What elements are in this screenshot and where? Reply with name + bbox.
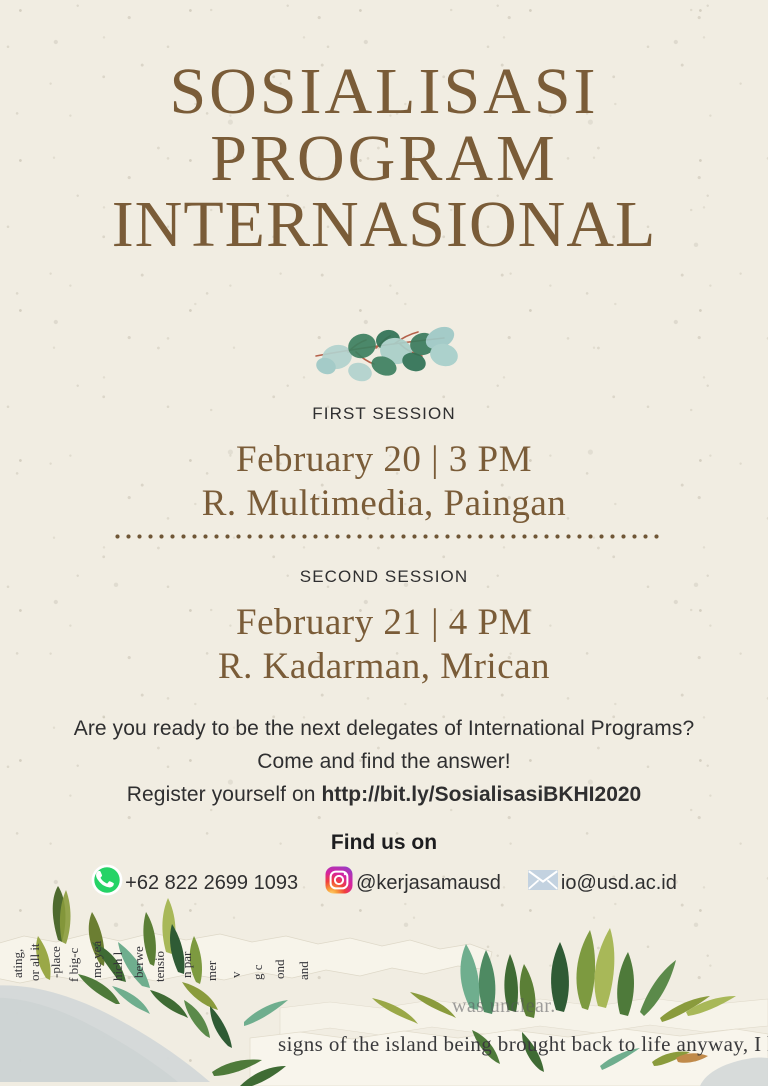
- poster-title: SOSIALISASI PROGRAM INTERNASIONAL: [0, 62, 768, 256]
- dotted-divider: [112, 533, 660, 540]
- body-line-2: Come and find the answer!: [0, 745, 768, 778]
- registration-link[interactable]: http://bit.ly/SosialisasiBKHI2020: [321, 783, 641, 806]
- body-line-1: Are you ready to be the next delegates o…: [0, 712, 768, 745]
- first-session-details: February 20 | 3 PM R. Multimedia, Painga…: [0, 438, 768, 527]
- title-line-3: INTERNASIONAL: [0, 195, 768, 256]
- first-session-datetime: February 20 | 3 PM: [0, 438, 768, 482]
- poster-canvas: SOSIALISASI PROGRAM INTERNASIONAL: [0, 0, 768, 1086]
- second-session-details: February 21 | 4 PM R. Kadarman, Mrican: [0, 601, 768, 690]
- second-session-venue: R. Kadarman, Mrican: [0, 645, 768, 689]
- second-session-datetime: February 21 | 4 PM: [0, 601, 768, 645]
- eucalyptus-sprig-icon: [296, 300, 472, 388]
- first-session-label: FIRST SESSION: [0, 404, 768, 424]
- second-session-label: SECOND SESSION: [0, 567, 768, 587]
- register-prefix: Register yourself on: [127, 783, 322, 806]
- bottom-collage: ating, or all it -place f big-c me yea h…: [0, 886, 768, 1086]
- registration-line: Register yourself on http://bit.ly/Sosia…: [0, 778, 768, 811]
- body-copy: Are you ready to be the next delegates o…: [0, 712, 768, 811]
- paper-blob: [0, 985, 210, 1082]
- find-us-label: Find us on: [0, 831, 768, 855]
- title-line-1: SOSIALISASI: [0, 62, 768, 123]
- title-line-2: PROGRAM: [0, 129, 768, 190]
- first-session-venue: R. Multimedia, Paingan: [0, 482, 768, 526]
- torn-paper-strip-left: [0, 933, 492, 983]
